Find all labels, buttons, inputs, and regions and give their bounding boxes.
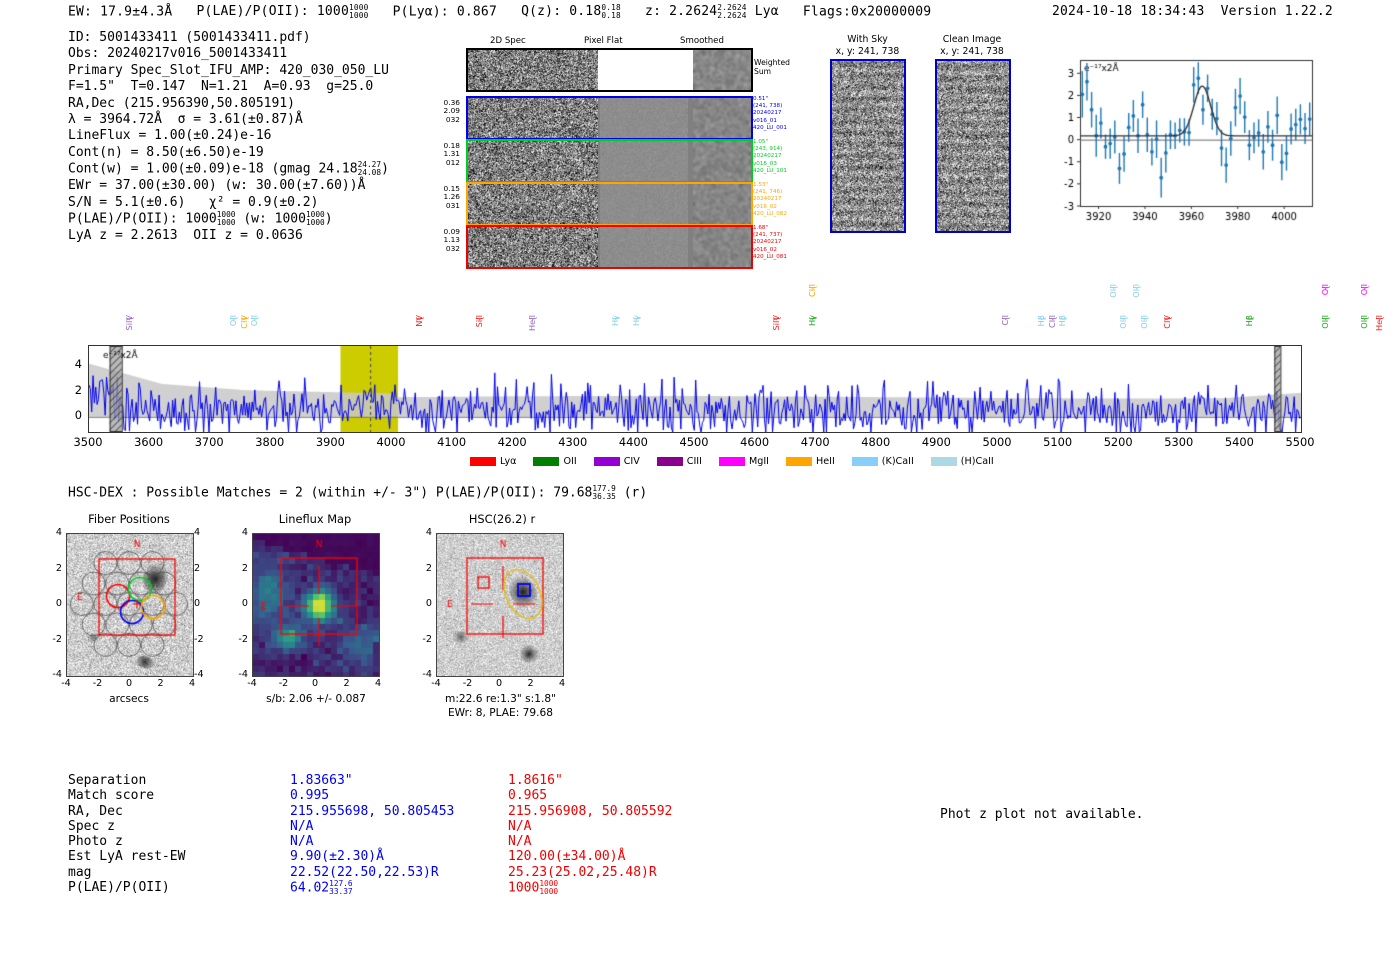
panel-title-hsc-r: HSC(26.2) r: [432, 512, 572, 526]
cutout-panels-section: Fiber Positions Lineflux Map HSC(26.2) r…: [0, 0, 1400, 760]
match2-plae: 100010001000: [508, 880, 672, 896]
match1-spec-z: N/A: [290, 819, 454, 834]
cutout-ytick: -4: [414, 669, 432, 680]
match-label-plae-poii: P(LAE)/P(OII): [68, 880, 185, 895]
panel-title-lineflux-map: Lineflux Map: [248, 512, 382, 526]
match2-score: 0.965: [508, 788, 672, 803]
cutout-ytick: 0: [414, 598, 432, 609]
match-label-mag: mag: [68, 865, 185, 880]
cutout-ytick: 4: [230, 527, 248, 538]
match1-photo-z: N/A: [290, 834, 454, 849]
matches-column-1: 1.83663" 0.995 215.955698, 50.805453 N/A…: [290, 773, 454, 896]
match2-radec: 215.956908, 50.805592: [508, 804, 672, 819]
fiber-xlabel: arcsecs: [62, 693, 196, 705]
cutout-ytick: -2: [44, 634, 62, 645]
cutout-ytick: 2: [230, 563, 248, 574]
photz-note: Phot z plot not available.: [940, 807, 1144, 822]
cutout-ytick-right: 2: [194, 563, 212, 574]
cutout-xtick: 0: [119, 678, 139, 689]
cutout-ytick: -4: [44, 669, 62, 680]
cutout-xtick: -2: [88, 678, 108, 689]
cutout-ytick: -2: [414, 634, 432, 645]
cutout-ytick-right: 0: [194, 598, 212, 609]
match1-mag: 22.52(22.50,22.53)R: [290, 865, 454, 880]
cutout-xtick: 0: [305, 678, 325, 689]
match-label-est-lya-ew: Est LyA rest-EW: [68, 849, 185, 864]
cutout-ytick: -4: [230, 669, 248, 680]
match-label-separation: Separation: [68, 773, 185, 788]
hsc-caption-2: EWr: 8, PLAE: 79.68: [428, 707, 573, 719]
match1-separation: 1.83663": [290, 773, 454, 788]
cutout-xtick: 2: [521, 678, 541, 689]
cutout-xtick: 4: [368, 678, 388, 689]
hsc-caption-1: m:22.6 re:1.3" s:1.8": [428, 693, 573, 705]
cutout-ytick: 0: [44, 598, 62, 609]
lineflux-caption: s/b: 2.06 +/- 0.087: [240, 693, 392, 705]
hsc-r-image[interactable]: [436, 533, 564, 677]
match1-est-lya-ew: 9.90(±2.30)Å: [290, 849, 454, 864]
cutout-ytick: 0: [230, 598, 248, 609]
match1-radec: 215.955698, 50.805453: [290, 804, 454, 819]
cutout-ytick-right: -2: [194, 634, 212, 645]
matches-column-2: 1.8616" 0.965 215.956908, 50.805592 N/A …: [508, 773, 672, 896]
matches-labels-column: Separation Match score RA, Dec Spec z Ph…: [68, 773, 185, 895]
match-label-match-score: Match score: [68, 788, 185, 803]
cutout-ytick: 2: [44, 563, 62, 574]
cutout-xtick: -2: [274, 678, 294, 689]
match-label-photo-z: Photo z: [68, 834, 185, 849]
match2-photo-z: N/A: [508, 834, 672, 849]
cutout-xtick: 0: [489, 678, 509, 689]
match2-mag: 25.23(25.02,25.48)R: [508, 865, 672, 880]
lineflux-map-image[interactable]: [252, 533, 380, 677]
match-label-spec-z: Spec z: [68, 819, 185, 834]
panel-title-fiber-positions: Fiber Positions: [62, 512, 196, 526]
cutout-ytick: -2: [230, 634, 248, 645]
cutout-ytick-right: 4: [194, 527, 212, 538]
match-label-radec: RA, Dec: [68, 804, 185, 819]
cutout-ytick-right: -4: [194, 669, 212, 680]
cutout-ytick: 4: [44, 527, 62, 538]
match1-score: 0.995: [290, 788, 454, 803]
match2-separation: 1.8616": [508, 773, 672, 788]
cutout-xtick: -2: [458, 678, 478, 689]
match1-plae: 64.02127.633.37: [290, 880, 454, 896]
cutout-xtick: 2: [337, 678, 357, 689]
fiber-positions-image[interactable]: [66, 533, 194, 677]
cutout-xtick: 4: [552, 678, 572, 689]
cutout-xtick: 2: [151, 678, 171, 689]
cutout-ytick: 2: [414, 563, 432, 574]
match2-est-lya-ew: 120.00(±34.00)Å: [508, 849, 672, 864]
match2-spec-z: N/A: [508, 819, 672, 834]
cutout-ytick: 4: [414, 527, 432, 538]
